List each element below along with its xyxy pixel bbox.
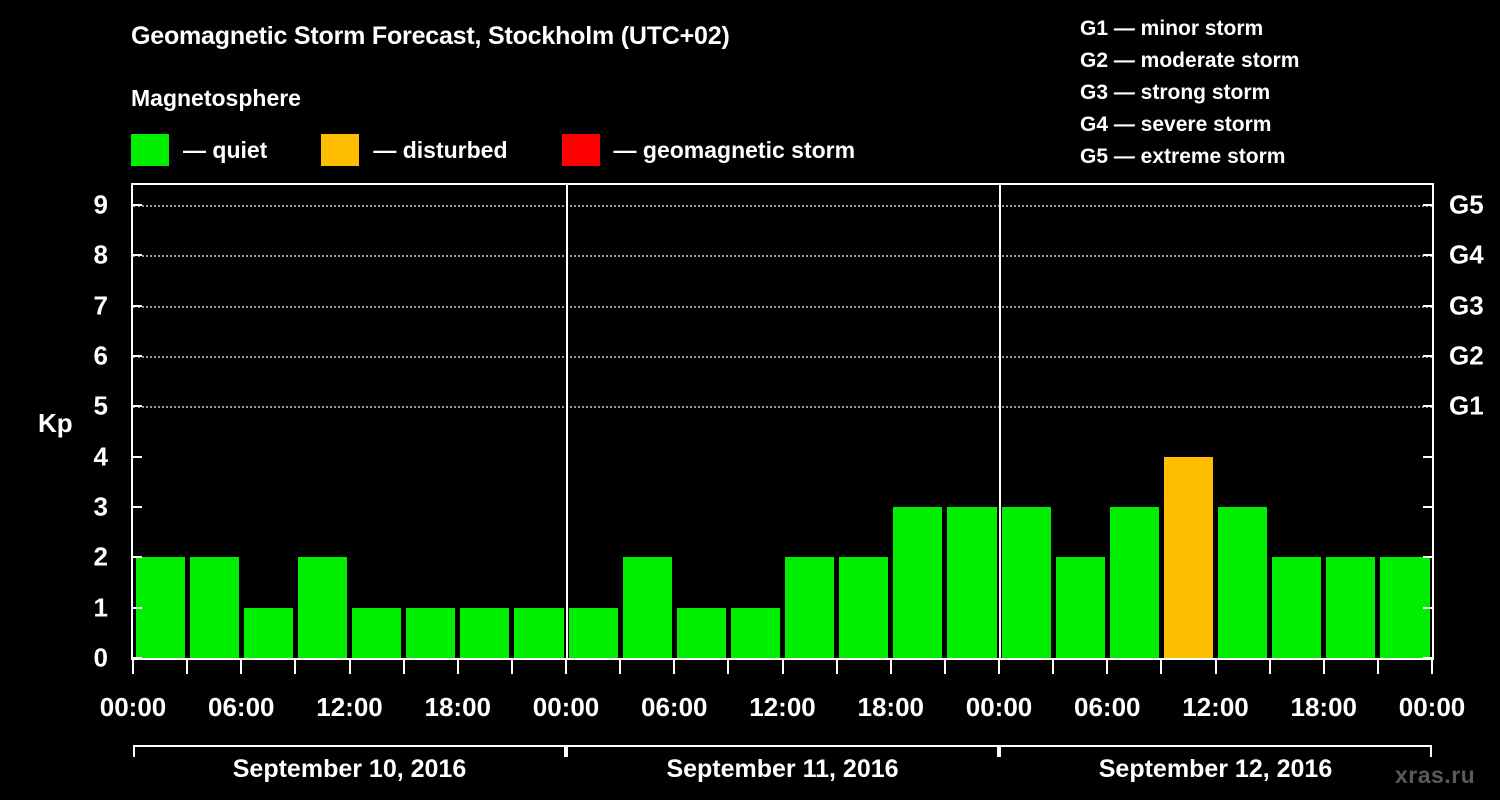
y-tick-mark [131, 506, 142, 508]
g-tick-label: G5 [1449, 190, 1484, 221]
legend-item-storm: — geomagnetic storm [562, 133, 856, 167]
x-tick-mark [294, 660, 296, 674]
bar [677, 608, 726, 658]
x-tick-mark [511, 660, 513, 674]
bar [244, 608, 293, 658]
x-tick-label: 18:00 [1291, 692, 1358, 723]
x-tick-mark [1323, 660, 1325, 674]
bar [514, 608, 563, 658]
x-tick-label: 12:00 [749, 692, 816, 723]
right-axis-minor-tick [1423, 506, 1434, 508]
x-tick-label: 00:00 [533, 692, 600, 723]
x-tick-mark [944, 660, 946, 674]
gscale-legend-line: G5 — extreme storm [1080, 141, 1299, 173]
y-tick-label: 1 [68, 592, 108, 623]
bar [190, 557, 239, 658]
y-tick-label: 3 [68, 492, 108, 523]
x-tick-mark [998, 660, 1000, 674]
bar [1056, 557, 1105, 658]
g-tick-mark [1423, 355, 1434, 357]
x-tick-mark [727, 660, 729, 674]
y-tick-label: 7 [68, 290, 108, 321]
y-tick-label: 8 [68, 240, 108, 271]
g-tick-label: G4 [1449, 240, 1484, 271]
g-tick-mark [1423, 204, 1434, 206]
x-tick-mark [1269, 660, 1271, 674]
bar [1218, 507, 1267, 658]
y-tick-mark [131, 456, 142, 458]
y-tick-mark [131, 355, 142, 357]
x-tick-mark [349, 660, 351, 674]
x-tick-mark [1431, 660, 1433, 674]
bar [406, 608, 455, 658]
bar [1002, 507, 1051, 658]
bar [731, 608, 780, 658]
right-axis-minor-tick [1423, 556, 1434, 558]
bar [623, 557, 672, 658]
legend-label-disturbed: — disturbed [373, 137, 507, 164]
x-tick-mark [619, 660, 621, 674]
y-tick-label: 4 [68, 441, 108, 472]
gscale-legend-line: G1 — minor storm [1080, 13, 1299, 45]
bar [460, 608, 509, 658]
x-tick-mark [565, 660, 567, 674]
orange-swatch-icon [321, 134, 359, 166]
chart-canvas: Geomagnetic Storm Forecast, Stockholm (U… [0, 0, 1500, 800]
magnetosphere-label: Magnetosphere [131, 85, 301, 112]
bar [1164, 457, 1213, 658]
x-tick-mark [1052, 660, 1054, 674]
bar [136, 557, 185, 658]
x-tick-label: 00:00 [1399, 692, 1466, 723]
bar [947, 507, 996, 658]
x-tick-label: 06:00 [208, 692, 275, 723]
bar [785, 557, 834, 658]
x-tick-mark [403, 660, 405, 674]
magnetosphere-legend: — quiet — disturbed — geomagnetic storm [131, 133, 855, 167]
x-tick-label: 06:00 [641, 692, 708, 723]
date-label: September 10, 2016 [233, 755, 466, 784]
green-swatch-icon [131, 134, 169, 166]
x-tick-label: 00:00 [966, 692, 1033, 723]
right-axis-minor-tick [1423, 607, 1434, 609]
bar [1326, 557, 1375, 658]
y-tick-label: 9 [68, 190, 108, 221]
legend-label-storm: — geomagnetic storm [614, 137, 856, 164]
gscale-legend-line: G2 — moderate storm [1080, 45, 1299, 77]
y-tick-mark [131, 254, 142, 256]
x-tick-label: 12:00 [316, 692, 383, 723]
y-tick-mark [131, 204, 142, 206]
y-tick-mark [131, 405, 142, 407]
y-tick-mark [131, 305, 142, 307]
y-tick-mark [131, 657, 142, 659]
x-tick-mark [890, 660, 892, 674]
bar [893, 507, 942, 658]
x-tick-mark [240, 660, 242, 674]
legend-label-quiet: — quiet [183, 137, 267, 164]
x-tick-mark [1215, 660, 1217, 674]
g-tick-label: G1 [1449, 391, 1484, 422]
y-tick-label: 2 [68, 542, 108, 573]
right-axis-minor-tick [1423, 456, 1434, 458]
gscale-legend: G1 — minor storm G2 — moderate storm G3 … [1080, 13, 1299, 173]
bar [352, 608, 401, 658]
x-tick-label: 18:00 [858, 692, 925, 723]
x-tick-label: 12:00 [1182, 692, 1249, 723]
y-tick-mark [131, 556, 142, 558]
g-tick-mark [1423, 305, 1434, 307]
x-tick-mark [782, 660, 784, 674]
x-tick-mark [1106, 660, 1108, 674]
x-tick-mark [457, 660, 459, 674]
x-tick-mark [1377, 660, 1379, 674]
red-swatch-icon [562, 134, 600, 166]
date-label: September 12, 2016 [1099, 755, 1332, 784]
x-tick-mark [1160, 660, 1162, 674]
bar [1110, 507, 1159, 658]
x-tick-label: 00:00 [100, 692, 167, 723]
right-axis-minor-tick [1423, 657, 1434, 659]
plot-area [131, 183, 1434, 660]
g-tick-label: G3 [1449, 290, 1484, 321]
date-label: September 11, 2016 [666, 755, 898, 784]
y-tick-label: 0 [68, 643, 108, 674]
gscale-legend-line: G3 — strong storm [1080, 77, 1299, 109]
y-tick-label: 5 [68, 391, 108, 422]
x-tick-mark [132, 660, 134, 674]
x-tick-mark [836, 660, 838, 674]
bar [1272, 557, 1321, 658]
legend-item-disturbed: — disturbed [321, 133, 507, 167]
x-tick-mark [673, 660, 675, 674]
bar-series [133, 185, 1432, 658]
g-tick-mark [1423, 254, 1434, 256]
bar [569, 608, 618, 658]
legend-item-quiet: — quiet [131, 133, 267, 167]
x-tick-mark [186, 660, 188, 674]
x-tick-label: 06:00 [1074, 692, 1141, 723]
x-tick-label: 18:00 [425, 692, 492, 723]
g-tick-mark [1423, 405, 1434, 407]
bar [839, 557, 888, 658]
y-tick-mark [131, 607, 142, 609]
g-tick-label: G2 [1449, 341, 1484, 372]
gscale-legend-line: G4 — severe storm [1080, 109, 1299, 141]
y-tick-label: 6 [68, 341, 108, 372]
bar [298, 557, 347, 658]
page-title: Geomagnetic Storm Forecast, Stockholm (U… [131, 22, 730, 51]
watermark: xras.ru [1395, 762, 1475, 789]
